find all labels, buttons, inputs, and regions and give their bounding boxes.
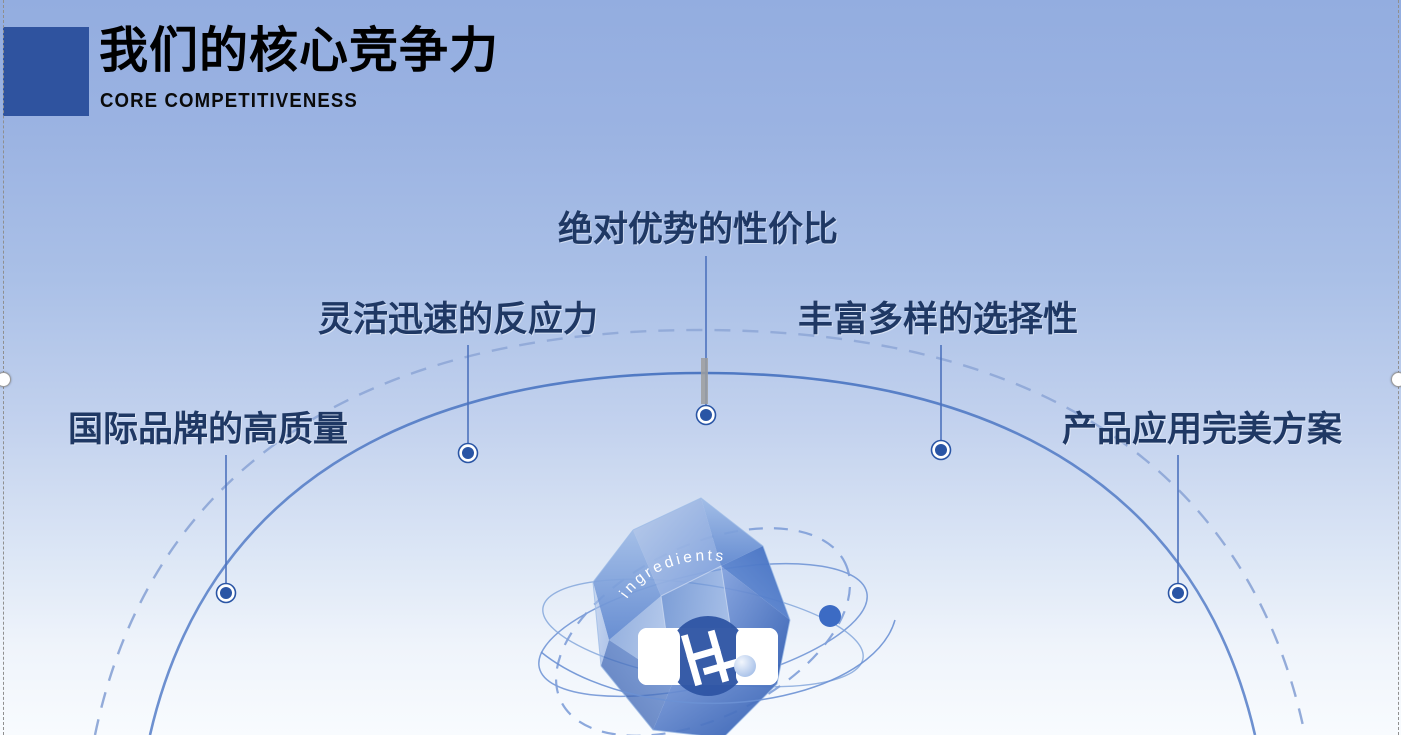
node-dot-1[interactable] xyxy=(217,584,236,603)
orbit-dot-dark xyxy=(819,605,841,627)
node-label-quality: 国际品牌的高质量 xyxy=(68,410,348,450)
node-label-variety: 丰富多样的选择性 xyxy=(798,300,1078,340)
node-dot-4[interactable] xyxy=(932,441,951,460)
page-subtitle: CORE COMPETITIVENESS xyxy=(100,89,358,113)
page-title: 我们的核心竞争力 xyxy=(99,20,499,82)
node-label-value: 绝对优势的性价比 xyxy=(558,210,838,250)
slide-canvas: ingredients 国际品牌的高质量 灵活迅速的反应力 绝对优势的性价比 丰 xyxy=(0,0,1401,735)
line-resize-handle[interactable] xyxy=(701,358,708,404)
brand-badge xyxy=(638,616,778,696)
accent-square xyxy=(3,27,89,116)
node-label-solution: 产品应用完美方案 xyxy=(1062,410,1342,450)
node-dot-5[interactable] xyxy=(1169,584,1188,603)
orbit-dot-light xyxy=(734,655,756,677)
node-dot-3[interactable] xyxy=(697,406,716,425)
resize-handle-right[interactable] xyxy=(1391,372,1401,387)
node-label-responsiveness: 灵活迅速的反应力 xyxy=(318,300,598,340)
placeholder-border-right xyxy=(1398,0,1399,735)
node-dot-2[interactable] xyxy=(459,444,478,463)
placeholder-border-left xyxy=(3,0,4,735)
brand-emblem: ingredients xyxy=(505,470,905,735)
